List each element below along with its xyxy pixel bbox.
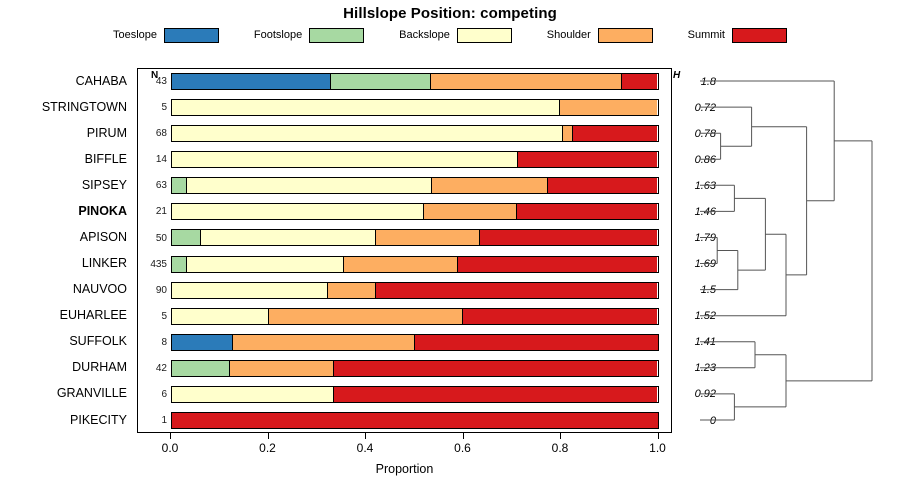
- n-value: 8: [138, 330, 167, 355]
- bar-segment-shoulder[interactable]: [328, 283, 376, 298]
- legend-item-label: Shoulder: [547, 29, 591, 41]
- bar-segment-summit[interactable]: [573, 126, 658, 141]
- legend-swatch-icon: [164, 28, 219, 43]
- x-axis-tick: [658, 433, 659, 439]
- x-axis: 0.00.20.40.60.81.0: [137, 433, 672, 463]
- dendrogram: [700, 68, 895, 433]
- bar-segment-toeslope[interactable]: [172, 74, 331, 89]
- chart-row: 4351.69: [138, 252, 673, 277]
- chart-row: 901.5: [138, 278, 673, 303]
- n-value: 5: [138, 95, 167, 120]
- x-axis-tick-label: 0.4: [357, 441, 374, 455]
- chart-row: 211.46: [138, 199, 673, 224]
- category-label-linker: LINKER: [82, 251, 127, 276]
- bar-segment-summit[interactable]: [334, 361, 658, 376]
- dendrogram-branches: [700, 81, 872, 420]
- chart-row: 51.52: [138, 304, 673, 329]
- x-axis-tick: [560, 433, 561, 439]
- x-axis-tick: [268, 433, 269, 439]
- category-axis-labels: CAHABASTRINGTOWNPIRUMBIFFLESIPSEYPINOKAA…: [0, 68, 133, 433]
- chart-root: Hillslope Position: competing ToeslopeFo…: [0, 0, 900, 500]
- bar-segment-summit[interactable]: [622, 74, 657, 89]
- n-value: 14: [138, 147, 167, 172]
- stacked-bar[interactable]: [171, 125, 659, 142]
- bar-segment-shoulder[interactable]: [560, 100, 657, 115]
- n-value: 6: [138, 382, 167, 407]
- n-value: 68: [138, 121, 167, 146]
- bar-segment-shoulder[interactable]: [230, 361, 334, 376]
- stacked-bar[interactable]: [171, 203, 659, 220]
- x-axis-tick-label: 0.2: [259, 441, 276, 455]
- bar-segment-backslope[interactable]: [172, 283, 328, 298]
- n-value: 90: [138, 278, 167, 303]
- x-axis-tick-label: 0.8: [552, 441, 569, 455]
- bar-segment-backslope[interactable]: [172, 152, 518, 167]
- stacked-bar[interactable]: [171, 308, 659, 325]
- bar-segment-backslope[interactable]: [201, 230, 376, 245]
- bar-rows: 431.850.72680.78140.86631.63211.46501.79…: [138, 69, 673, 434]
- n-value: 1: [138, 408, 167, 433]
- category-label-pinoka: PINOKA: [78, 198, 127, 223]
- category-label-biffle: BIFFLE: [85, 146, 127, 171]
- x-axis-label: Proportion: [137, 462, 672, 476]
- bar-segment-summit[interactable]: [517, 204, 658, 219]
- legend-item-footslope[interactable]: Footslope: [254, 28, 364, 43]
- bar-segment-backslope[interactable]: [172, 126, 563, 141]
- chart-row: 10: [138, 408, 673, 433]
- chart-row: 631.63: [138, 173, 673, 198]
- x-axis-tick: [365, 433, 366, 439]
- chart-row: 50.72: [138, 95, 673, 120]
- bar-segment-backslope[interactable]: [172, 387, 334, 402]
- category-label-sipsey: SIPSEY: [82, 172, 127, 197]
- bar-segment-shoulder[interactable]: [563, 126, 573, 141]
- chart-row: 680.78: [138, 121, 673, 146]
- x-axis-tick: [170, 433, 171, 439]
- category-label-apison: APISON: [80, 224, 127, 249]
- bar-segment-footslope[interactable]: [172, 257, 187, 272]
- chart-row: 60.92: [138, 382, 673, 407]
- bar-segment-summit[interactable]: [172, 413, 658, 428]
- chart-row: 140.86: [138, 147, 673, 172]
- n-value: 50: [138, 225, 167, 250]
- legend-item-summit[interactable]: Summit: [688, 28, 787, 43]
- bar-segment-footslope[interactable]: [172, 361, 230, 376]
- n-value: 42: [138, 356, 167, 381]
- x-axis-tick-label: 0.6: [454, 441, 471, 455]
- legend-swatch-icon: [732, 28, 787, 43]
- stacked-bar[interactable]: [171, 360, 659, 377]
- x-axis-tick-label: 1.0: [649, 441, 666, 455]
- legend-item-label: Summit: [688, 29, 725, 41]
- bar-segment-backslope[interactable]: [172, 204, 424, 219]
- category-label-cahaba: CAHABA: [76, 68, 127, 93]
- stacked-bar[interactable]: [171, 282, 659, 299]
- legend-item-backslope[interactable]: Backslope: [399, 28, 512, 43]
- stacked-bar[interactable]: [171, 256, 659, 273]
- n-value: 21: [138, 199, 167, 224]
- chart-row: 431.8: [138, 69, 673, 94]
- bar-segment-backslope[interactable]: [172, 100, 560, 115]
- category-label-granville: GRANVILLE: [57, 381, 127, 406]
- legend-item-label: Backslope: [399, 29, 450, 41]
- bar-segment-summit[interactable]: [548, 178, 657, 193]
- bar-segment-summit[interactable]: [415, 335, 658, 350]
- bar-segment-shoulder[interactable]: [431, 74, 622, 89]
- bar-segment-backslope[interactable]: [172, 309, 269, 324]
- bar-segment-summit[interactable]: [458, 257, 657, 272]
- bar-segment-backslope[interactable]: [187, 257, 345, 272]
- bar-segment-shoulder[interactable]: [269, 309, 463, 324]
- n-value: 435: [138, 252, 167, 277]
- legend-item-label: Footslope: [254, 29, 302, 41]
- chart-row: 501.79: [138, 225, 673, 250]
- stacked-bar[interactable]: [171, 151, 659, 168]
- stacked-bar[interactable]: [171, 334, 659, 351]
- bar-segment-summit[interactable]: [518, 152, 658, 167]
- n-column-header: N: [151, 70, 158, 81]
- category-label-pikecity: PIKECITY: [70, 407, 127, 432]
- plot-panel: 431.850.72680.78140.86631.63211.46501.79…: [137, 68, 672, 433]
- chart-row: 421.23: [138, 356, 673, 381]
- x-axis-tick-label: 0.0: [162, 441, 179, 455]
- legend-item-label: Toeslope: [113, 29, 157, 41]
- bar-segment-backslope[interactable]: [187, 178, 432, 193]
- category-label-suffolk: SUFFOLK: [69, 329, 127, 354]
- legend: ToeslopeFootslopeBackslopeShoulderSummit: [113, 26, 787, 44]
- stacked-bar[interactable]: [171, 229, 659, 246]
- bar-segment-shoulder[interactable]: [424, 204, 516, 219]
- legend-swatch-icon: [598, 28, 653, 43]
- x-axis-tick: [463, 433, 464, 439]
- bar-segment-shoulder[interactable]: [344, 257, 458, 272]
- bar-segment-shoulder[interactable]: [376, 230, 480, 245]
- stacked-bar[interactable]: [171, 73, 659, 90]
- stacked-bar[interactable]: [171, 386, 659, 403]
- category-label-pirum: PIRUM: [87, 120, 127, 145]
- category-label-stringtown: STRINGTOWN: [42, 94, 127, 119]
- n-value: 63: [138, 173, 167, 198]
- bar-segment-toeslope[interactable]: [172, 335, 233, 350]
- bar-segment-shoulder[interactable]: [233, 335, 415, 350]
- bar-segment-footslope[interactable]: [331, 74, 431, 89]
- n-value: 5: [138, 304, 167, 329]
- stacked-bar[interactable]: [171, 177, 659, 194]
- bar-segment-shoulder[interactable]: [432, 178, 549, 193]
- legend-swatch-icon: [457, 28, 512, 43]
- dendrogram-tree: [700, 68, 895, 433]
- category-label-euharlee: EUHARLEE: [60, 303, 127, 328]
- legend-item-toeslope[interactable]: Toeslope: [113, 28, 219, 43]
- stacked-bar[interactable]: [171, 99, 659, 116]
- legend-swatch-icon: [309, 28, 364, 43]
- page-title: Hillslope Position: competing: [0, 5, 900, 22]
- bar-segment-summit[interactable]: [376, 283, 658, 298]
- legend-item-shoulder[interactable]: Shoulder: [547, 28, 653, 43]
- stacked-bar[interactable]: [171, 412, 659, 429]
- category-label-durham: DURHAM: [72, 355, 127, 380]
- bar-segment-footslope[interactable]: [172, 230, 201, 245]
- chart-row: 81.41: [138, 330, 673, 355]
- bar-segment-summit[interactable]: [334, 387, 658, 402]
- bar-segment-footslope[interactable]: [172, 178, 187, 193]
- category-label-nauvoo: NAUVOO: [73, 277, 127, 302]
- h-column-header: H: [673, 70, 680, 81]
- bar-segment-summit[interactable]: [463, 309, 657, 324]
- bar-segment-summit[interactable]: [480, 230, 657, 245]
